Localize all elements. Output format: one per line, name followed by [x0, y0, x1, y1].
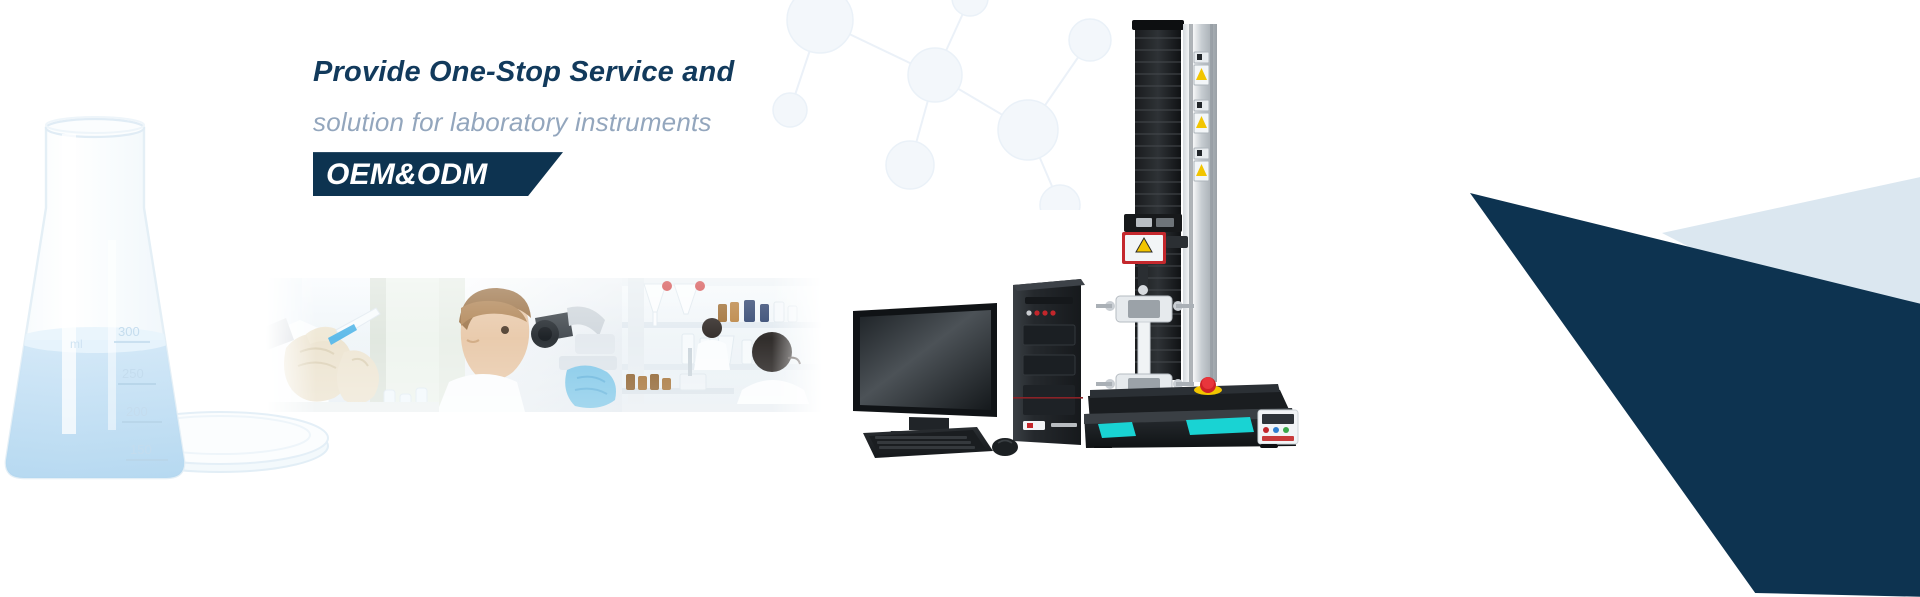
keyboard: [863, 427, 993, 458]
machine-column-silver: [1183, 24, 1217, 382]
universal-testing-machine: [1080, 18, 1310, 448]
photo-microscope: [439, 278, 622, 412]
svg-text:150: 150: [130, 442, 152, 457]
badge-label: OEM&ODM: [313, 152, 563, 196]
lab-instruments-banner: 300 250 200 150 ml Provide One-Stop Serv…: [0, 0, 1920, 597]
headline-line-1: Provide One-Stop Service and: [313, 58, 734, 88]
computer-tower: [1013, 279, 1085, 445]
monitor: [853, 303, 997, 439]
photo-overlay: [622, 278, 822, 412]
warning-label-group: [1194, 52, 1209, 181]
oem-odm-badge: OEM&ODM: [313, 152, 563, 196]
photo-overlay: [439, 278, 622, 412]
svg-text:ml: ml: [70, 337, 83, 351]
specimen: [1138, 322, 1150, 374]
svg-text:250: 250: [122, 366, 144, 381]
svg-text:300: 300: [118, 324, 140, 339]
molecule-watermark-icon: [760, 0, 1130, 210]
headline-line-2: solution for laboratory instruments: [313, 109, 734, 136]
photo-overlay: [266, 278, 439, 412]
lab-photo-strip: [266, 278, 822, 412]
headline-block: Provide One-Stop Service and solution fo…: [313, 58, 734, 196]
mouse: [992, 438, 1018, 456]
svg-text:200: 200: [126, 404, 148, 419]
photo-lab-bench: [622, 278, 822, 412]
photo-pipetting: [266, 278, 439, 412]
